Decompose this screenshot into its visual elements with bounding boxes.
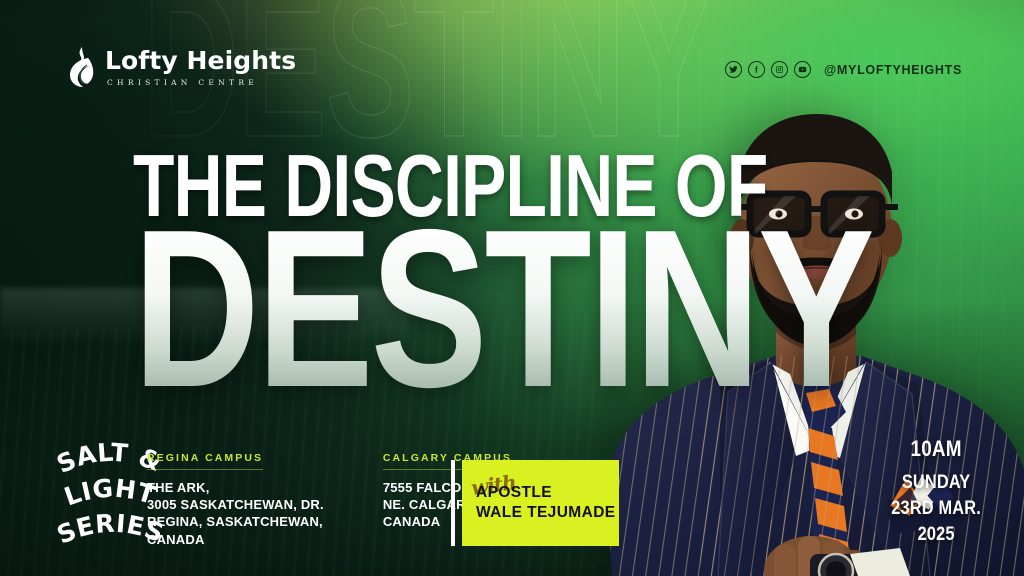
- campus-address: THE ARK, 3005 SASKATCHEWAN, DR. REGINA, …: [147, 479, 324, 548]
- event-time: 10AM: [891, 436, 981, 462]
- social-handle[interactable]: @MYLOFTYHEIGHTS: [824, 63, 962, 77]
- instagram-icon[interactable]: [771, 61, 788, 78]
- vertical-divider: [451, 460, 455, 546]
- youtube-icon[interactable]: [794, 61, 811, 78]
- speaker-callout: with APOSTLE WALE TEJUMADE: [462, 460, 619, 546]
- brand-name: Lofty Heights: [105, 48, 296, 73]
- brand-subtitle: CHRISTIAN CENTRE: [105, 78, 296, 87]
- event-flyer: DESTINY: [0, 0, 1024, 576]
- facebook-icon[interactable]: [748, 61, 765, 78]
- address-line: 3005 SASKATCHEWAN, DR.: [147, 496, 324, 513]
- flame-leaf-logo-icon: [66, 46, 96, 88]
- campus-label: REGINA CAMPUS: [147, 452, 263, 470]
- event-year: 2025: [891, 524, 981, 546]
- campus-regina: REGINA CAMPUS THE ARK, 3005 SASKATCHEWAN…: [147, 448, 324, 548]
- event-datetime: 10AM SUNDAY 23RD MAR. 2025: [884, 436, 988, 546]
- twitter-icon[interactable]: [725, 61, 742, 78]
- social-links: @MYLOFTYHEIGHTS: [725, 61, 962, 78]
- event-day: SUNDAY: [891, 472, 981, 494]
- address-line: THE ARK,: [147, 479, 324, 496]
- event-date: 23RD MAR.: [891, 498, 981, 520]
- series-line-2: LIGHT: [60, 473, 159, 512]
- event-title: THE DISCIPLINE OF DESTINY: [133, 148, 1024, 398]
- address-line: REGINA, SASKATCHEWAN,: [147, 513, 324, 530]
- series-badge: SALT & LIGHT SERIES: [59, 445, 161, 555]
- title-line-2: DESTINY: [133, 218, 872, 398]
- address-line: CANADA: [147, 531, 324, 548]
- speaker-name: WALE TEJUMADE: [476, 503, 619, 523]
- brand-logo[interactable]: Lofty Heights CHRISTIAN CENTRE: [66, 46, 296, 88]
- speaker-title: APOSTLE: [476, 483, 619, 503]
